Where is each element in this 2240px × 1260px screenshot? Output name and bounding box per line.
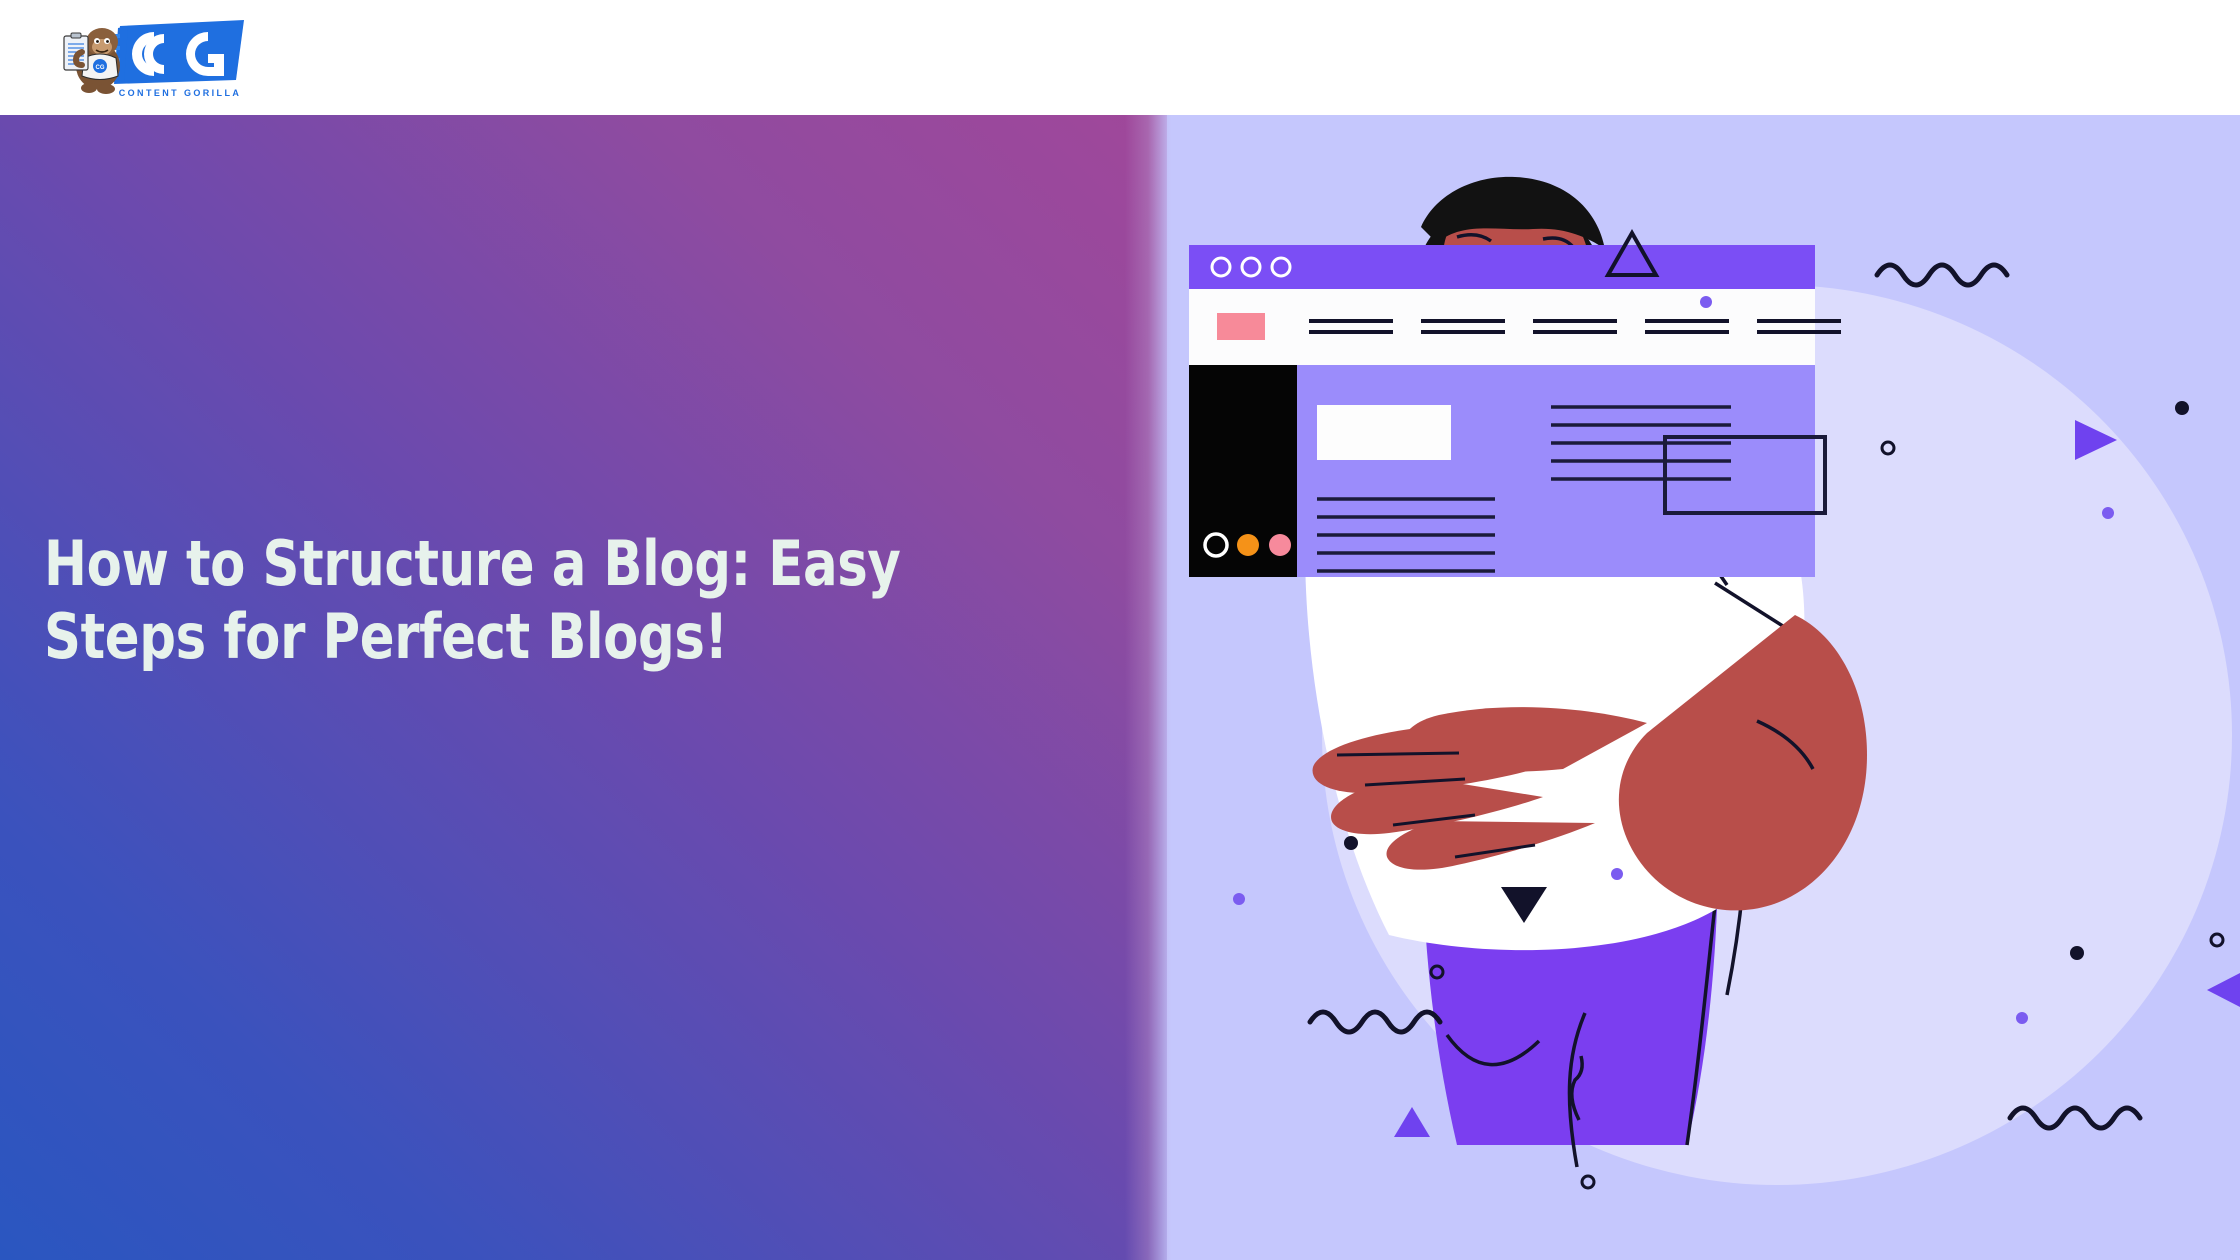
content-image-placeholder bbox=[1317, 405, 1451, 460]
dot-purple-1 bbox=[1700, 296, 1712, 308]
circle-outline-bottom-right bbox=[2211, 934, 2223, 946]
content-gorilla-logo-icon: CG CONTENT GORILLA bbox=[58, 8, 258, 108]
dot-black-mid bbox=[1344, 836, 1358, 850]
squiggle-bottom-left-icon bbox=[1310, 1012, 1440, 1032]
dot-purple-2 bbox=[1611, 868, 1623, 880]
dot-purple-3 bbox=[2016, 1012, 2028, 1024]
browser-navbar bbox=[1189, 289, 1815, 365]
blog-structure-illustration bbox=[1167, 115, 2240, 1260]
sidebar-dot-pink bbox=[1269, 534, 1291, 556]
logo-brand-name: CONTENT GORILLA bbox=[119, 88, 242, 98]
dot-purple-small bbox=[2102, 507, 2114, 519]
dot-black-bottom bbox=[2070, 946, 2084, 960]
content-gorilla-logo[interactable]: CG CONTENT GORILLA bbox=[58, 8, 258, 108]
navbar-logo-block bbox=[1217, 313, 1265, 340]
squiggle-bottom-right-icon bbox=[2010, 1108, 2140, 1128]
page-title: How to Structure a Blog: Easy Steps for … bbox=[44, 527, 1033, 673]
hero-left-panel: How to Structure a Blog: Easy Steps for … bbox=[0, 115, 1167, 1260]
circle-outline-small-left bbox=[1582, 1176, 1594, 1188]
hero-section: How to Structure a Blog: Easy Steps for … bbox=[0, 115, 2240, 1260]
svg-text:CG: CG bbox=[96, 65, 105, 71]
squiggle-top-right-icon bbox=[1877, 265, 2007, 285]
site-header: CG CONTENT GORILLA bbox=[0, 0, 2240, 115]
browser-titlebar bbox=[1189, 245, 1815, 289]
dot-purple-left bbox=[1233, 893, 1245, 905]
dot-black-right bbox=[2175, 401, 2189, 415]
hero-illustration-panel bbox=[1167, 115, 2240, 1260]
triangle-purple-edge-icon bbox=[2207, 973, 2240, 1007]
browser-mockup-front bbox=[1189, 365, 1297, 577]
triangle-purple-bottom-icon bbox=[1394, 1107, 1430, 1137]
sidebar-dot-orange bbox=[1237, 534, 1259, 556]
